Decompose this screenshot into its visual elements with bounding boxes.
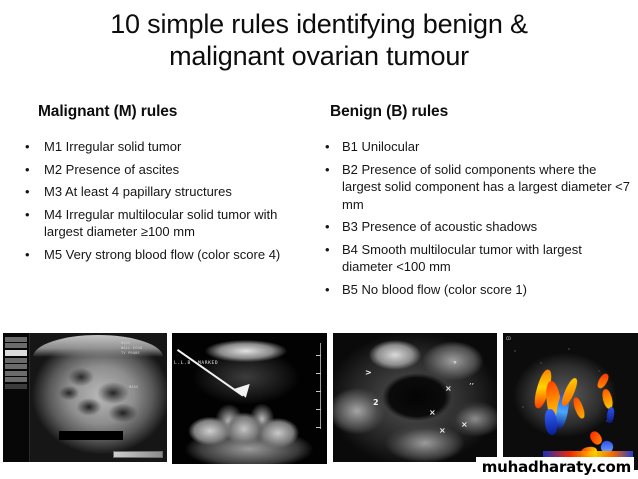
list-item: • M2 Presence of ascites bbox=[18, 161, 318, 179]
ultrasound-scan-area bbox=[333, 333, 497, 462]
bullet-glyph: • bbox=[25, 206, 30, 224]
color-doppler-image-strong-blood-flow: CD bbox=[503, 333, 638, 470]
rule-text: B4 Smooth multilocular tumor with larges… bbox=[342, 242, 582, 275]
ultrasound-image-unilocular-cyst: > 2 × × × × ’’ ° bbox=[333, 333, 497, 462]
bullet-glyph: • bbox=[25, 246, 30, 264]
scan-overlay-label-cd: CD bbox=[506, 336, 511, 341]
redaction-bar bbox=[59, 431, 123, 440]
page-title: 10 simple rules identifying benign & mal… bbox=[40, 8, 598, 72]
list-item: • M5 Very strong blood flow (color score… bbox=[18, 246, 318, 264]
malignant-rules-list: • M1 Irregular solid tumor • M2 Presence… bbox=[18, 138, 318, 263]
bullet-glyph: • bbox=[325, 218, 330, 236]
caliper-marker-icon: ’’ bbox=[469, 383, 474, 391]
depth-ruler bbox=[320, 343, 321, 429]
ultrasound-image-strip: MASS WALL ECHO TV PROBE MASS L.L.B MARKE… bbox=[0, 333, 638, 473]
list-item: • M4 Irregular multilocular solid tumor … bbox=[18, 206, 318, 241]
list-item: • B5 No blood flow (color score 1) bbox=[318, 281, 630, 299]
rule-text: M4 Irregular multilocular solid tumor wi… bbox=[44, 207, 277, 240]
rule-text: M2 Presence of ascites bbox=[44, 162, 179, 177]
scan-overlay-label-tv-probe: TV PROBE bbox=[121, 351, 140, 355]
caliper-marker-icon: × bbox=[439, 427, 446, 435]
list-item: • B1 Unilocular bbox=[318, 138, 630, 156]
bullet-glyph: • bbox=[325, 281, 330, 299]
rule-text: M1 Irregular solid tumor bbox=[44, 139, 181, 154]
scan-overlay-label-llb: L.L.B bbox=[174, 361, 191, 366]
grayscale-bar-meter bbox=[113, 451, 163, 458]
rule-text: B2 Presence of solid components where th… bbox=[342, 162, 630, 212]
caliper-marker-icon: > bbox=[365, 369, 372, 377]
list-item: • B2 Presence of solid components where … bbox=[318, 161, 630, 214]
benign-column-heading: Benign (B) rules bbox=[330, 103, 630, 121]
page-title-line-2: malignant ovarian tumour bbox=[40, 40, 598, 72]
scan-overlay-label-mass-1: MASS bbox=[121, 341, 130, 345]
rule-text: B5 No blood flow (color score 1) bbox=[342, 282, 527, 297]
bullet-glyph: • bbox=[25, 183, 30, 201]
scan-overlay-label-marked: MARKED bbox=[198, 361, 218, 366]
bullet-glyph: • bbox=[325, 138, 330, 156]
list-item: • M3 At least 4 papillary structures bbox=[18, 183, 318, 201]
bullet-glyph: • bbox=[25, 138, 30, 156]
list-item: • B4 Smooth multilocular tumor with larg… bbox=[318, 241, 630, 276]
scan-overlay-label-mass-2: MASS bbox=[129, 385, 138, 389]
rule-text: B1 Unilocular bbox=[342, 139, 419, 154]
malignant-rules-column: Malignant (M) rules • M1 Irregular solid… bbox=[18, 103, 318, 268]
rule-text: B3 Presence of acoustic shadows bbox=[342, 219, 537, 234]
bullet-glyph: • bbox=[25, 161, 30, 179]
scan-overlay-label-wall-echo: WALL ECHO bbox=[121, 346, 142, 350]
malignant-column-heading: Malignant (M) rules bbox=[38, 103, 318, 121]
slide-canvas: 10 simple rules identifying benign & mal… bbox=[0, 0, 638, 479]
page-title-line-1: 10 simple rules identifying benign & bbox=[40, 8, 598, 40]
caliper-marker-icon: × bbox=[461, 421, 468, 429]
caliper-marker-icon: × bbox=[445, 385, 452, 393]
list-item: • B3 Presence of acoustic shadows bbox=[318, 218, 630, 236]
ultrasound-image-papillary-structures: L.L.B MARKED bbox=[172, 333, 327, 464]
benign-rules-list: • B1 Unilocular • B2 Presence of solid c… bbox=[318, 138, 630, 298]
list-item: • M1 Irregular solid tumor bbox=[18, 138, 318, 156]
benign-rules-column: Benign (B) rules • B1 Unilocular • B2 Pr… bbox=[318, 103, 630, 303]
ultrasound-machine-sidebar bbox=[3, 333, 30, 462]
rule-text: M5 Very strong blood flow (color score 4… bbox=[44, 247, 280, 262]
caliper-marker-icon: × bbox=[429, 409, 436, 417]
ultrasound-scan-area bbox=[29, 333, 167, 462]
speckle-texture bbox=[503, 333, 638, 470]
bullet-glyph: • bbox=[325, 161, 330, 179]
watermark: muhadharaty.com bbox=[476, 457, 634, 477]
ultrasound-image-multilocular-solid-tumor: MASS WALL ECHO TV PROBE MASS bbox=[3, 333, 167, 462]
annotation-arrow-icon bbox=[178, 349, 252, 397]
caliper-marker-icon: ° bbox=[453, 361, 457, 369]
bullet-glyph: • bbox=[325, 241, 330, 259]
rule-text: M3 At least 4 papillary structures bbox=[44, 184, 232, 199]
caliper-label: 2 bbox=[373, 399, 379, 407]
